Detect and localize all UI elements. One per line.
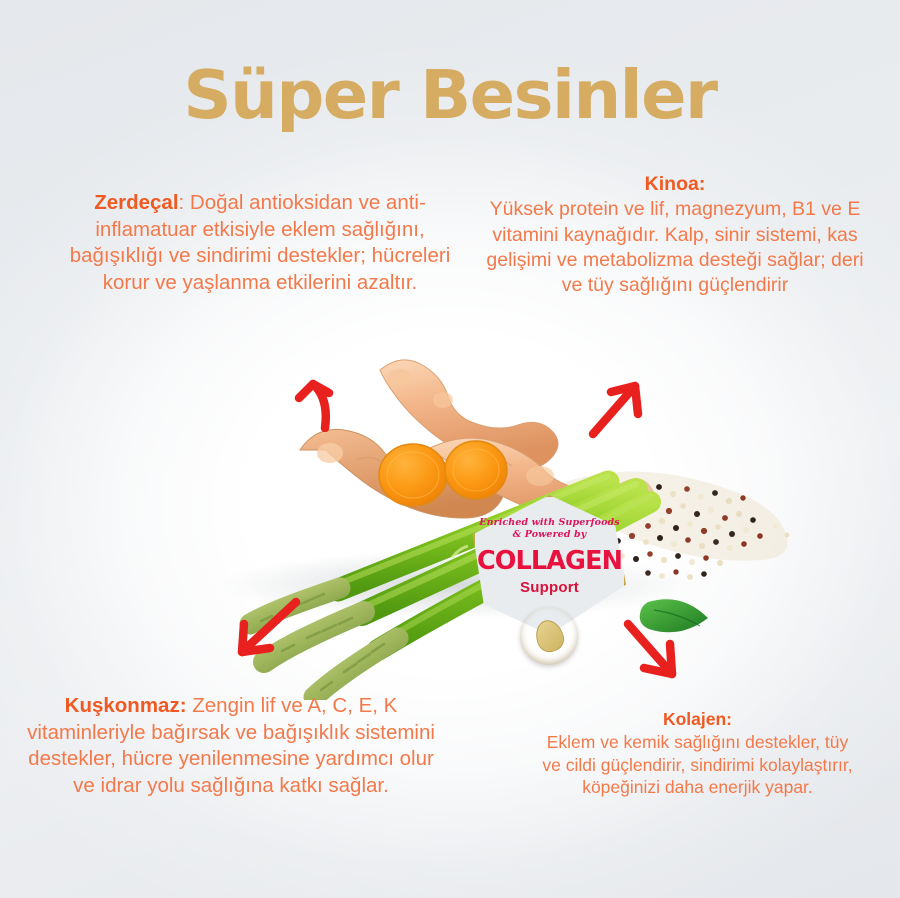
arrow-up-left-icon bbox=[275, 368, 341, 437]
arrow-down-right-icon bbox=[618, 612, 690, 689]
badge-brand: COLLAGEN bbox=[473, 549, 626, 575]
arrow-up-right-icon bbox=[585, 374, 653, 445]
superfoods-poster: Süper Besinler bbox=[0, 0, 900, 898]
badge-line-2: & Powered by bbox=[473, 529, 626, 541]
info-heading-zerdecal: Zerdeçal bbox=[94, 191, 178, 214]
gold-seal-icon bbox=[520, 607, 578, 665]
info-body-kolajen: Eklem ve kemik sağlığını destekler, tüy … bbox=[542, 732, 852, 798]
info-heading-kuskonmaz: Kuşkonmaz: bbox=[65, 694, 187, 717]
info-block-zerdecal: Zerdeçal: Doğal antioksidan ve anti-infl… bbox=[60, 190, 460, 297]
info-body-kinoa: Yüksek protein ve lif, magnezyum, B1 ve … bbox=[486, 198, 863, 296]
turmeric-slice bbox=[445, 441, 507, 499]
info-block-kuskonmaz: Kuşkonmaz: Zengin lif ve A, C, E, K vita… bbox=[16, 693, 446, 800]
turmeric-slice bbox=[379, 444, 447, 506]
ingredient-composition bbox=[0, 330, 900, 700]
info-heading-kinoa: Kinoa: bbox=[480, 172, 870, 197]
page-title: Süper Besinler bbox=[0, 62, 900, 129]
badge-line-1: Enriched with Superfoods bbox=[473, 517, 626, 529]
info-heading-kolajen: Kolajen: bbox=[540, 708, 855, 731]
arrow-down-left-icon bbox=[228, 596, 304, 667]
badge-subtitle: Support bbox=[473, 579, 626, 596]
info-block-kinoa: Kinoa:Yüksek protein ve lif, magnezyum, … bbox=[480, 172, 870, 299]
seal-emblem-icon bbox=[532, 617, 568, 656]
info-block-kolajen: Kolajen:Eklem ve kemik sağlığını destekl… bbox=[540, 708, 855, 799]
